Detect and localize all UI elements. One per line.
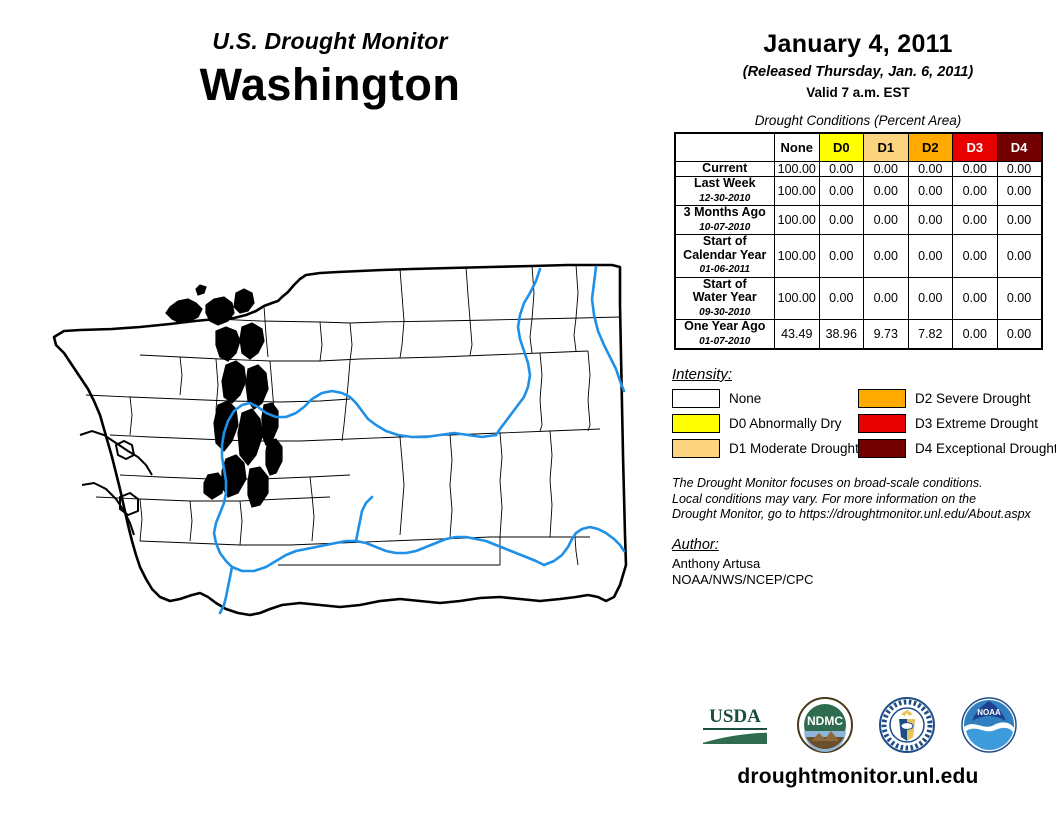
cell-d3: 0.00 <box>953 277 998 320</box>
legend-item-d1: D1 Moderate Drought <box>672 439 858 458</box>
column-header-d3: D3 <box>953 133 998 162</box>
intensity-legend: Intensity: NoneD2 Severe DroughtD0 Abnor… <box>672 366 1056 458</box>
row-sub-date: 01-07-2010 <box>676 335 775 349</box>
row-label: Last Week12-30-2010 <box>675 177 775 206</box>
legend-label-d3: D3 Extreme Drought <box>915 416 1038 431</box>
table-body: Current100.000.000.000.000.000.00Last We… <box>675 162 1042 350</box>
column-header-d4: D4 <box>997 133 1042 162</box>
row-sub-date: 01-06-2011 <box>676 263 775 277</box>
usdc-seal-logo <box>879 697 935 753</box>
header-blank-cell <box>675 133 775 162</box>
release-date: (Released Thursday, Jan. 6, 2011) <box>660 64 1056 80</box>
table-row: Start ofWater Year09-30-2010100.000.000.… <box>675 277 1042 320</box>
cell-d4: 0.00 <box>997 320 1042 350</box>
column-header-d2: D2 <box>908 133 953 162</box>
cell-d4: 0.00 <box>997 206 1042 235</box>
cell-d2: 0.00 <box>908 206 953 235</box>
cell-d0: 0.00 <box>819 162 864 177</box>
row-label: 3 Months Ago10-07-2010 <box>675 206 775 235</box>
row-label: Start ofCalendar Year01-06-2011 <box>675 235 775 278</box>
valid-time: Valid 7 a.m. EST <box>660 85 1056 100</box>
cell-none: 100.00 <box>775 177 820 206</box>
cell-d4: 0.00 <box>997 235 1042 278</box>
cell-none: 100.00 <box>775 277 820 320</box>
logo-row: USDA NDMC <box>660 690 1056 760</box>
cell-d1: 9.73 <box>864 320 909 350</box>
table-row: Start ofCalendar Year01-06-2011100.000.0… <box>675 235 1042 278</box>
disclaimer-line-2: Local conditions may vary. For more info… <box>672 492 1056 508</box>
legend-swatch-d3 <box>858 414 906 433</box>
noaa-logo: NOAA <box>961 697 1017 753</box>
disclaimer-line-3: Drought Monitor, go to https://droughtmo… <box>672 507 1056 523</box>
cell-d2: 0.00 <box>908 277 953 320</box>
site-url: droughtmonitor.unl.edu <box>660 765 1056 789</box>
legend-item-none: None <box>672 389 858 408</box>
legend-label-d1: D1 Moderate Drought <box>729 441 859 456</box>
cell-d1: 0.00 <box>864 235 909 278</box>
drought-map <box>20 245 660 665</box>
map-layers <box>54 265 626 615</box>
table-caption: Drought Conditions (Percent Area) <box>660 113 1056 128</box>
cell-d1: 0.00 <box>864 162 909 177</box>
row-label: Current <box>675 162 775 177</box>
cell-d0: 38.96 <box>819 320 864 350</box>
date-block: January 4, 2011 (Released Thursday, Jan.… <box>660 0 1056 100</box>
legend-swatch-d2 <box>858 389 906 408</box>
author-title: Author: <box>672 537 1056 553</box>
cell-d1: 0.00 <box>864 206 909 235</box>
svg-text:NDMC: NDMC <box>807 714 843 728</box>
cell-d3: 0.00 <box>953 177 998 206</box>
row-label: Start ofWater Year09-30-2010 <box>675 277 775 320</box>
legend-swatch-d0 <box>672 414 720 433</box>
disclaimer-line-1: The Drought Monitor focuses on broad-sca… <box>672 476 1056 492</box>
cell-none: 43.49 <box>775 320 820 350</box>
column-header-d0: D0 <box>819 133 864 162</box>
cell-d0: 0.00 <box>819 206 864 235</box>
legend-item-d4: D4 Exceptional Drought <box>858 439 1044 458</box>
legend-swatch-none <box>672 389 720 408</box>
column-header-none: None <box>775 133 820 162</box>
cell-none: 100.00 <box>775 162 820 177</box>
table-row: Last Week12-30-2010100.000.000.000.000.0… <box>675 177 1042 206</box>
author-name: Anthony Artusa <box>672 556 1056 572</box>
ndmc-logo: NDMC <box>797 697 853 753</box>
legend-label-none: None <box>729 391 761 406</box>
cell-d3: 0.00 <box>953 206 998 235</box>
cell-d4: 0.00 <box>997 277 1042 320</box>
cell-d4: 0.00 <box>997 162 1042 177</box>
svg-text:USDA: USDA <box>709 706 761 727</box>
cell-d4: 0.00 <box>997 177 1042 206</box>
cell-d1: 0.00 <box>864 277 909 320</box>
legend-label-d4: D4 Exceptional Drought <box>915 441 1056 456</box>
cell-d3: 0.00 <box>953 235 998 278</box>
disclaimer-text: The Drought Monitor focuses on broad-sca… <box>672 476 1056 523</box>
usda-logo: USDA <box>699 702 771 748</box>
legend-swatch-d1 <box>672 439 720 458</box>
table-row: Current100.000.000.000.000.000.00 <box>675 162 1042 177</box>
legend-swatch-d4 <box>858 439 906 458</box>
legend-item-d2: D2 Severe Drought <box>858 389 1044 408</box>
right-panel: January 4, 2011 (Released Thursday, Jan.… <box>660 0 1056 816</box>
cell-d1: 0.00 <box>864 177 909 206</box>
washington-map-svg <box>20 245 660 665</box>
svg-text:NOAA: NOAA <box>977 708 1001 717</box>
cell-d0: 0.00 <box>819 277 864 320</box>
cell-d2: 0.00 <box>908 162 953 177</box>
cell-d2: 0.00 <box>908 177 953 206</box>
legend-item-d3: D3 Extreme Drought <box>858 414 1044 433</box>
cell-d0: 0.00 <box>819 235 864 278</box>
row-label: One Year Ago01-07-2010 <box>675 320 775 350</box>
cell-d2: 0.00 <box>908 235 953 278</box>
table-row: 3 Months Ago10-07-2010100.000.000.000.00… <box>675 206 1042 235</box>
table-header-row: NoneD0D1D2D3D4 <box>675 133 1042 162</box>
row-sub-date: 09-30-2010 <box>676 306 775 320</box>
legend-grid: NoneD2 Severe DroughtD0 Abnormally DryD3… <box>672 389 1056 458</box>
cell-d0: 0.00 <box>819 177 864 206</box>
cell-d3: 0.00 <box>953 320 998 350</box>
state-title: Washington <box>0 59 660 111</box>
cell-none: 100.00 <box>775 206 820 235</box>
intensity-title: Intensity: <box>672 366 1056 383</box>
legend-item-d0: D0 Abnormally Dry <box>672 414 858 433</box>
author-affiliation: NOAA/NWS/NCEP/CPC <box>672 572 1056 588</box>
column-header-d1: D1 <box>864 133 909 162</box>
table-row: One Year Ago01-07-201043.4938.969.737.82… <box>675 320 1042 350</box>
row-sub-date: 10-07-2010 <box>676 221 775 235</box>
cell-d2: 7.82 <box>908 320 953 350</box>
valid-date: January 4, 2011 <box>660 30 1056 59</box>
title-block: U.S. Drought Monitor Washington <box>0 28 660 111</box>
author-block: Author: Anthony Artusa NOAA/NWS/NCEP/CPC <box>672 537 1056 588</box>
drought-conditions-table: NoneD0D1D2D3D4 Current100.000.000.000.00… <box>674 132 1043 350</box>
legend-label-d2: D2 Severe Drought <box>915 391 1031 406</box>
legend-label-d0: D0 Abnormally Dry <box>729 416 842 431</box>
cell-d3: 0.00 <box>953 162 998 177</box>
cell-none: 100.00 <box>775 235 820 278</box>
program-title: U.S. Drought Monitor <box>0 28 660 55</box>
row-sub-date: 12-30-2010 <box>676 192 775 206</box>
